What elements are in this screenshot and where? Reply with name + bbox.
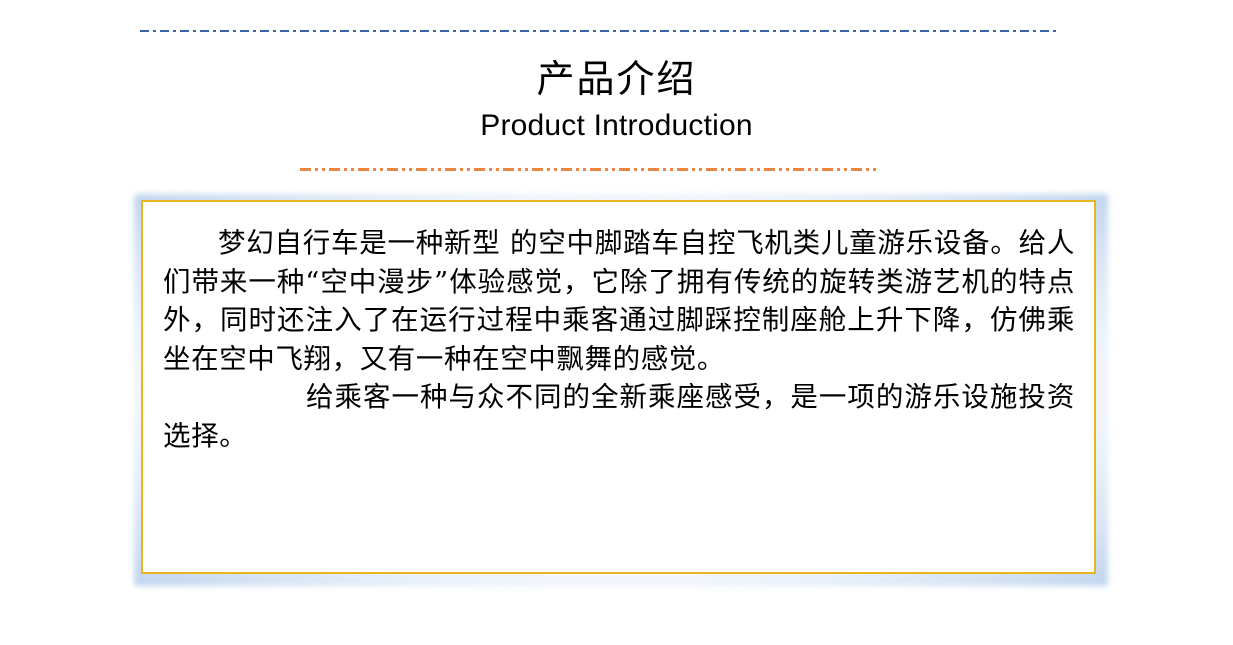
paragraph-1: 梦幻自行车是一种新型 的空中脚踏车自控飞机类儿童游乐设备。给人们带来一种“空中漫…: [163, 224, 1075, 378]
page-title-english: Product Introduction: [0, 106, 1233, 146]
top-dashed-rule: [140, 30, 1056, 32]
content-text-block: 梦幻自行车是一种新型 的空中脚踏车自控飞机类儿童游乐设备。给人们带来一种“空中漫…: [163, 224, 1075, 455]
paragraph-2: 给乘客一种与众不同的全新乘座感受，是一项的游乐设施投资选择。: [163, 378, 1075, 455]
heading-block: 产品介绍 Product Introduction: [0, 56, 1233, 146]
page-title-chinese: 产品介绍: [0, 56, 1233, 102]
slide-canvas: 产品介绍 Product Introduction 梦幻自行车是一种新型 的空中…: [0, 0, 1233, 645]
content-box: 梦幻自行车是一种新型 的空中脚踏车自控飞机类儿童游乐设备。给人们带来一种“空中漫…: [141, 200, 1096, 574]
orange-dashed-divider: [300, 168, 880, 171]
